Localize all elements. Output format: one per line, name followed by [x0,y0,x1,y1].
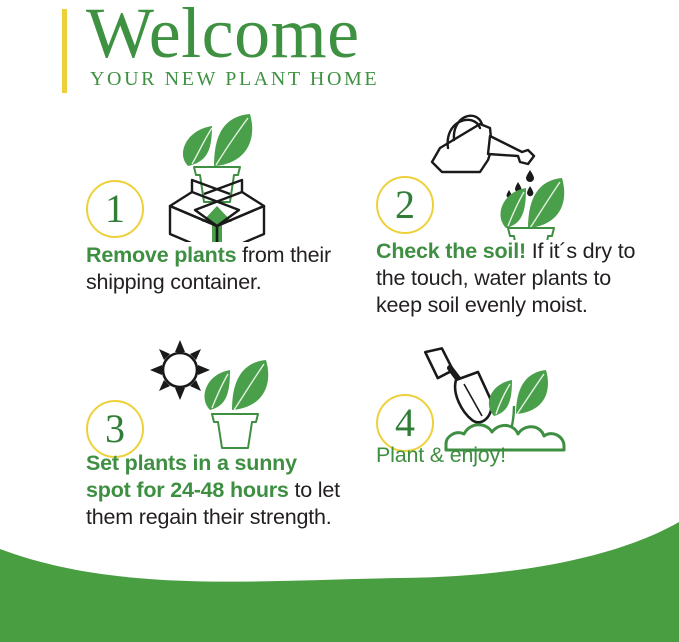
step-caption-4: Plant & enjoy! [376,442,636,469]
step-2: 2 [368,110,668,330]
footer-green-curve [0,522,679,642]
step-number-badge-1: 1 [86,180,144,238]
step-caption-4-rest: Plant & enjoy! [376,443,506,467]
step-caption-3: Set plants in a sunny spot for 24-48 hou… [86,450,341,531]
sun-over-potted-plant-icon [120,338,320,463]
step-caption-2-bold: Check the soil! [376,239,526,263]
step-1: 1 Remove plants fro [78,110,378,330]
step-caption-2: Check the soil! If it´s dry to the touch… [376,238,661,319]
header: Welcome YOUR NEW PLANT HOME [0,0,679,104]
step-caption-1-bold: Remove plants [86,243,236,267]
step-caption-3-bold: Set plants in a sunny spot for 24-48 hou… [86,451,297,502]
step-caption-1: Remove plants from their shipping contai… [86,242,346,296]
watering-can-over-potted-plant-icon [418,110,598,245]
page-title: Welcome [86,0,360,72]
header-accent-bar [62,9,67,93]
plant-lifted-from-open-box-icon [146,110,286,247]
page-subtitle: YOUR NEW PLANT HOME [90,67,379,91]
plant-care-instructions-card: Welcome YOUR NEW PLANT HOME 1 [0,0,679,642]
step-4: 4 Plant & enjoy! [368,338,668,538]
